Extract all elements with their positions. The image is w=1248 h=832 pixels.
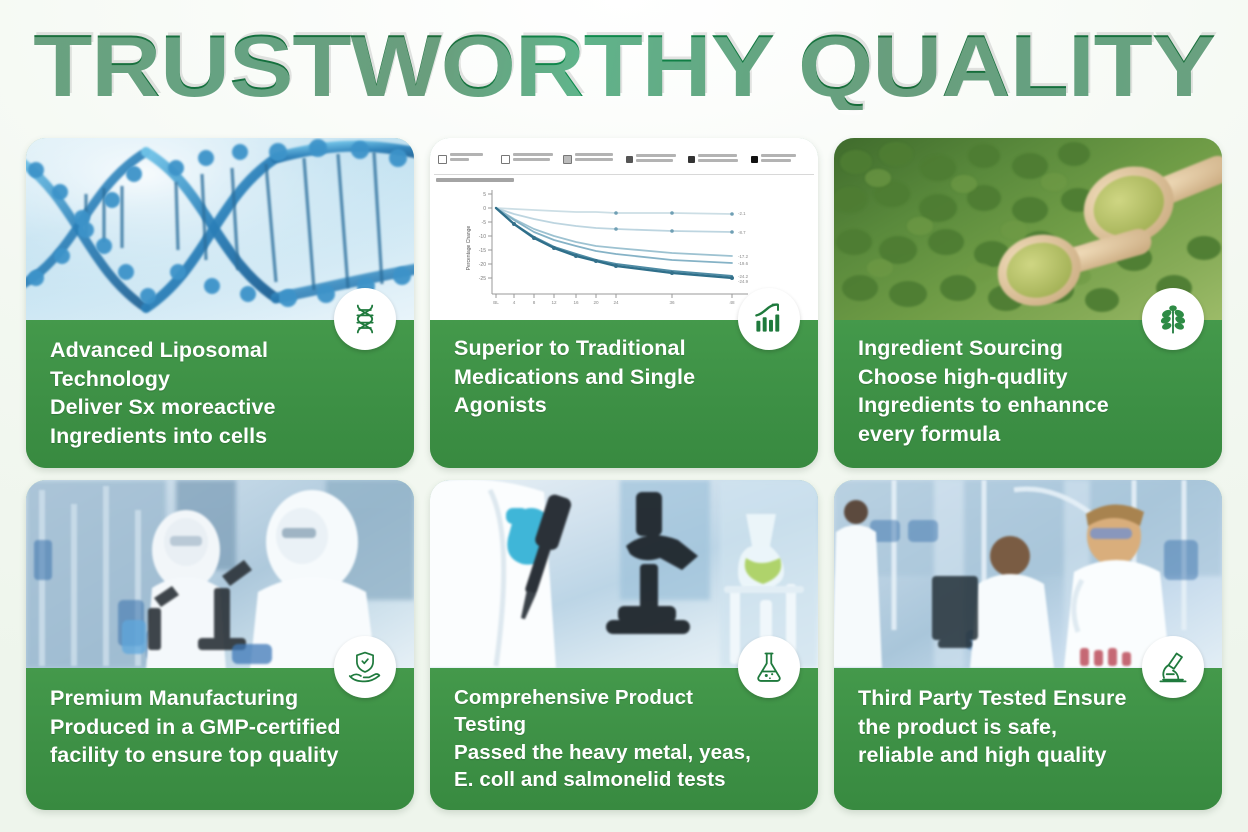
page-title-text: TRUSTWORTHY QUALITY xyxy=(33,22,1215,110)
feature-card-third-party-tested[interactable]: Third Party Tested Ensure the product is… xyxy=(834,480,1222,810)
card-line: Produced in a GMP-certified xyxy=(50,713,396,742)
card-line: Choose high-qudlity xyxy=(858,363,1204,392)
leaf-branch-icon xyxy=(1142,288,1204,350)
legend-entry xyxy=(563,153,623,164)
card-line: every formula xyxy=(858,420,1204,449)
legend-entry xyxy=(501,153,561,164)
svg-text:-20: -20 xyxy=(479,262,486,268)
svg-text:16: 16 xyxy=(573,300,579,305)
dna-icon xyxy=(334,288,396,350)
svg-text:12: 12 xyxy=(551,300,557,305)
feature-card-ingredient-sourcing[interactable]: Ingredient Sourcing Choose high-qudlity … xyxy=(834,138,1222,468)
feature-card-advanced-liposomal-technology[interactable]: Advanced Liposomal Technology Deliver Sx… xyxy=(26,138,414,468)
svg-text:4: 4 xyxy=(513,300,516,305)
feature-card-superior-to-traditional-medications[interactable]: 50-5 -10-15-20-25 Percentage Change xyxy=(430,138,818,468)
card-line: E. coll and salmonelid tests xyxy=(454,766,800,793)
svg-text:48: 48 xyxy=(729,300,735,305)
card-line: facility to ensure top quality xyxy=(50,741,396,770)
microscope-icon xyxy=(1142,636,1204,698)
chart-legend xyxy=(434,142,814,175)
legend-entry xyxy=(438,153,498,164)
hand-shield-icon xyxy=(334,636,396,698)
card-line: Technology xyxy=(50,365,396,394)
svg-text:Percentage Change: Percentage Change xyxy=(466,226,472,271)
infographic-page: TRUSTWORTHY QUALITY TRUSTWORTHY QUALITY xyxy=(0,0,1248,832)
legend-entry xyxy=(626,154,686,163)
card-line: reliable and high quality xyxy=(858,741,1204,770)
card-line: Ingredients to enhannce xyxy=(858,391,1204,420)
card-line: Agonists xyxy=(454,391,800,420)
svg-text:36: 36 xyxy=(669,300,675,305)
card-line: Medications and Single xyxy=(454,363,800,392)
feature-card-comprehensive-product-testing[interactable]: Comprehensive Product Testing Passed the… xyxy=(430,480,818,810)
svg-text:8: 8 xyxy=(533,300,536,305)
svg-text:-8.7: -8.7 xyxy=(738,230,746,235)
feature-card-premium-manufacturing[interactable]: Premium Manufacturing Produced in a GMP-… xyxy=(26,480,414,810)
legend-entry xyxy=(751,154,811,163)
svg-text:-25: -25 xyxy=(479,276,486,282)
legend-entry xyxy=(688,154,748,163)
svg-text:0: 0 xyxy=(483,206,486,212)
svg-text:-2.1: -2.1 xyxy=(738,211,746,216)
card-line: Passed the heavy metal, yeas, xyxy=(454,739,800,766)
svg-text:-17.2: -17.2 xyxy=(738,254,749,259)
svg-text:-19.6: -19.6 xyxy=(738,261,749,266)
svg-text:5: 5 xyxy=(483,192,486,198)
svg-text:-24.9: -24.9 xyxy=(738,279,749,284)
bar-chart-growth-icon xyxy=(738,288,800,350)
card-line: Testing xyxy=(454,711,800,738)
svg-text:-15: -15 xyxy=(479,248,486,254)
card-line: Ingredients into cells xyxy=(50,422,396,451)
page-title: TRUSTWORTHY QUALITY TRUSTWORTHY QUALITY xyxy=(0,16,1248,116)
svg-text:-10: -10 xyxy=(479,234,486,240)
svg-text:20: 20 xyxy=(593,300,599,305)
svg-text:-5: -5 xyxy=(482,220,487,226)
card-line: the product is safe, xyxy=(858,713,1204,742)
svg-text:BL: BL xyxy=(493,300,499,305)
card-line: Deliver Sx moreactive xyxy=(50,393,396,422)
svg-text:24: 24 xyxy=(613,300,619,305)
flask-icon xyxy=(738,636,800,698)
feature-card-grid: Advanced Liposomal Technology Deliver Sx… xyxy=(26,138,1222,810)
